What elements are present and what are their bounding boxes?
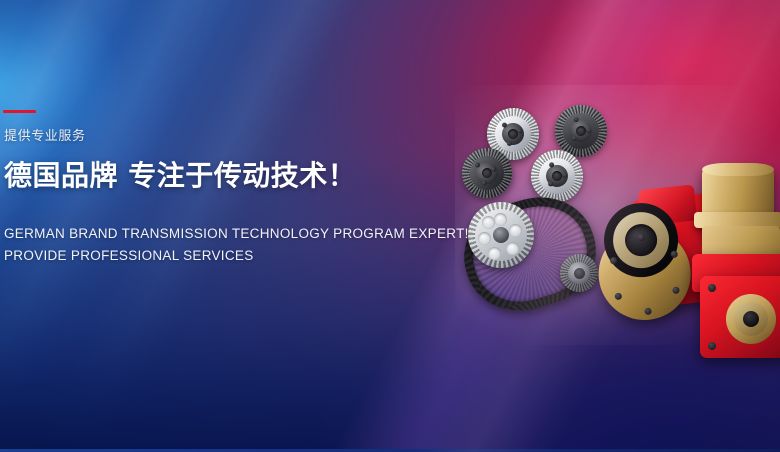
sprocket-hub: [493, 227, 509, 243]
banner-headline: 德国品牌 专注于传动技术！: [4, 159, 432, 193]
sprocket-hole: [478, 232, 491, 245]
sprocket-hole: [482, 216, 495, 229]
gearbox-bolt: [708, 342, 716, 350]
banner-subtitle-line-2: PROVIDE PROFESSIONAL SERVICES: [4, 245, 432, 267]
accent-rule: [3, 110, 36, 113]
sprocket-hole: [509, 224, 522, 237]
gearbox-square-output-face: [700, 276, 780, 358]
sprocket-hole: [488, 247, 501, 260]
idler-bore: [574, 268, 585, 279]
banner-subtitle-line-1: GERMAN BRAND TRANSMISSION TECHNOLOGY PRO…: [4, 223, 432, 245]
camshaft-sprocket: [468, 202, 534, 268]
idler-pulley: [560, 254, 598, 292]
gearbox-output-shaft: [743, 311, 759, 327]
banner-subtitle-en: GERMAN BRAND TRANSMISSION TECHNOLOGY PRO…: [4, 223, 432, 267]
sprocket-hole: [494, 213, 507, 226]
banner-copy-block: 提供专业服务 德国品牌 专注于传动技术！ GERMAN BRAND TRANSM…: [2, 110, 432, 267]
right-angle-gearbox-right: [688, 168, 780, 358]
timing-belt-assembly: [462, 196, 612, 321]
gearbox-bolt: [708, 284, 716, 292]
hero-banner: 提供专业服务 德国品牌 专注于传动技术！ GERMAN BRAND TRANSM…: [0, 0, 780, 452]
sprocket-hole: [506, 242, 519, 255]
gearbox-cylinder-top: [702, 163, 774, 176]
banner-eyebrow: 提供专业服务: [4, 129, 432, 145]
